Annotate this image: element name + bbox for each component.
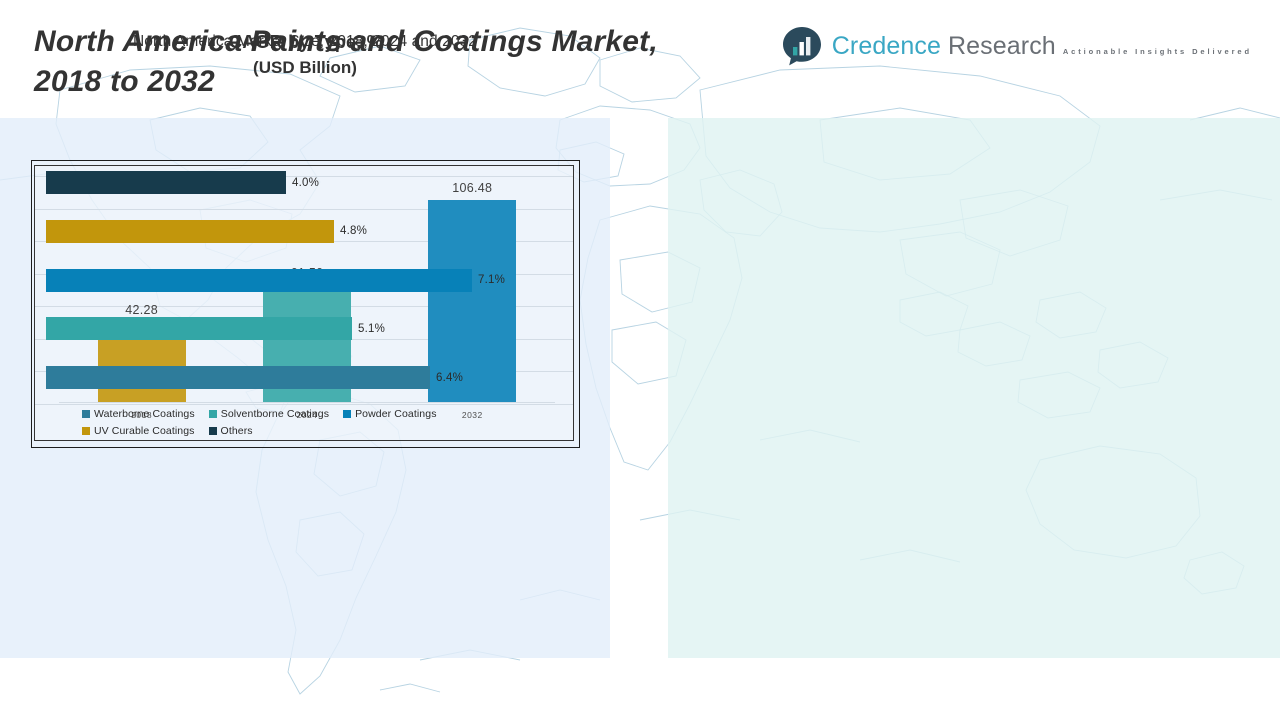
logo-word-research: Research	[948, 32, 1056, 60]
header: North America Paints and Coatings Market…	[0, 0, 1280, 118]
legend-item[interactable]: Solventborne Coatings	[209, 408, 329, 420]
bar-plot-area: 4.0%4.8%7.1%5.1%6.4%	[46, 171, 571, 389]
bar-value-label: 6.4%	[436, 372, 463, 384]
bar-row[interactable]: 7.1%	[46, 269, 571, 292]
bar-value-label: 4.8%	[340, 225, 367, 237]
right-panel	[668, 118, 1280, 658]
legend-item[interactable]: Powder Coatings	[343, 408, 436, 420]
legend-swatch	[82, 410, 90, 418]
horizontal-bar[interactable]	[46, 366, 430, 389]
horizontal-bar[interactable]	[46, 171, 286, 194]
bar-row[interactable]: 5.1%	[46, 317, 571, 340]
legend-item[interactable]: Others	[209, 425, 253, 437]
legend-label: Powder Coatings	[355, 408, 436, 420]
bar-row[interactable]: 4.8%	[46, 220, 571, 243]
legend-label: Waterborne Coatings	[94, 408, 195, 420]
page-title: North America Paints and Coatings Market…	[34, 22, 834, 102]
legend-item[interactable]: UV Curable Coatings	[82, 425, 195, 437]
horizontal-bar[interactable]	[46, 220, 334, 243]
legend-swatch	[209, 427, 217, 435]
legend-swatch	[82, 427, 90, 435]
legend-swatch	[343, 410, 351, 418]
legend-label: Others	[221, 425, 253, 437]
brand-logo[interactable]: Credence Research Actionable Insights De…	[781, 25, 1252, 67]
bar-row[interactable]: 4.0%	[46, 171, 571, 194]
logo-tagline: Actionable Insights Delivered	[1063, 47, 1252, 56]
legend-label: UV Curable Coatings	[94, 425, 195, 437]
bar-value-label: 7.1%	[478, 274, 505, 286]
bar-value-label: 4.0%	[292, 177, 319, 189]
legend-label: Solventborne Coatings	[221, 408, 329, 420]
legend-swatch	[209, 410, 217, 418]
bar-value-label: 5.1%	[358, 323, 385, 335]
legend-item[interactable]: Waterborne Coatings	[82, 408, 195, 420]
cagr-by-type-bar-chart: 4.0%4.8%7.1%5.1%6.4% Waterborne Coatings…	[31, 160, 580, 448]
infographic-canvas: North America Paints and Coatings Market…	[0, 0, 1280, 720]
horizontal-bar[interactable]	[46, 317, 352, 340]
horizontal-bar[interactable]	[46, 269, 472, 292]
bar-row[interactable]: 6.4%	[46, 366, 571, 389]
credence-bubble-chart-icon	[781, 25, 823, 67]
logo-word-credence: Credence	[832, 32, 941, 60]
chart-legend: Waterborne CoatingsSolventborne Coatings…	[82, 408, 565, 437]
